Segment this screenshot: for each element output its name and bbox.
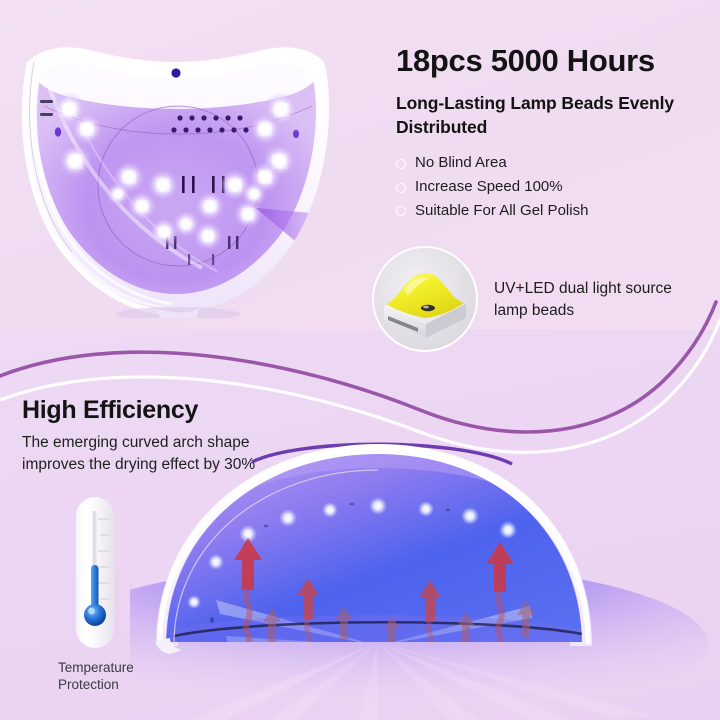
list-item: Increase Speed 100% bbox=[396, 176, 706, 199]
bullet-label: Suitable For All Gel Polish bbox=[415, 200, 588, 223]
temperature-protection-label: Temperature Protection bbox=[58, 660, 178, 694]
page-title: 18pcs 5000 Hours bbox=[396, 44, 706, 78]
label-line-2: Protection bbox=[58, 677, 178, 694]
bullet-label: No Blind Area bbox=[415, 152, 507, 175]
list-item: Suitable For All Gel Polish bbox=[396, 200, 706, 223]
bullet-label: Increase Speed 100% bbox=[415, 176, 563, 199]
feature-bullet-list: No Blind Area Increase Speed 100% Suitab… bbox=[396, 152, 706, 222]
curved-arch-dome-lamp bbox=[130, 430, 720, 720]
subtitle: Long-Lasting Lamp Beads Evenly Distribut… bbox=[396, 91, 706, 139]
thermometer-icon bbox=[70, 495, 120, 650]
list-item: No Blind Area bbox=[396, 152, 706, 175]
ring-bullet-icon bbox=[396, 206, 406, 216]
label-line-1: Temperature bbox=[58, 660, 178, 677]
ring-bullet-icon bbox=[396, 183, 406, 193]
section-title-high-efficiency: High Efficiency bbox=[22, 396, 198, 425]
infographic-page: 18pcs 5000 Hours Long-Lasting Lamp Beads… bbox=[0, 0, 720, 720]
power-indicator-light bbox=[171, 68, 180, 77]
lamp-product-image bbox=[6, 18, 346, 318]
top-text-column: 18pcs 5000 Hours Long-Lasting Lamp Beads… bbox=[396, 44, 706, 224]
ring-bullet-icon bbox=[396, 159, 406, 169]
